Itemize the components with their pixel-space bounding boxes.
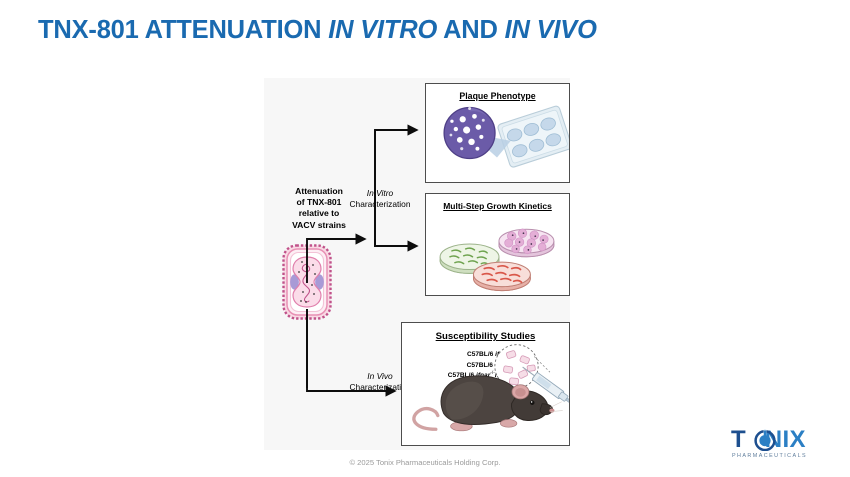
plaque-assay-illustration: [426, 84, 569, 182]
panel-plaque-phenotype: Plaque Phenotype: [425, 83, 570, 183]
copyright-notice: © 2025 Tonix Pharmaceuticals Holding Cor…: [0, 458, 850, 467]
panel-growth-kinetics: Multi-Step Growth Kinetics: [425, 193, 570, 296]
title-segment: AND: [437, 16, 504, 44]
panel-susceptibility-studies: Susceptibility Studies C57BL/6 ifnar-/-C…: [401, 322, 570, 446]
branch-label-line: In Vitro: [367, 188, 393, 198]
mouse-inoculation-illustration: [402, 323, 569, 445]
petri-dishes-illustration: [426, 194, 569, 295]
title-segment: IN VITRO: [328, 16, 437, 44]
branch-label-line: Characterization: [350, 199, 411, 209]
tonix-logo: TONIX PHARMACEUTICALS: [731, 428, 835, 464]
page-title: TNX-801 ATTENUATION IN VITRO AND IN VIVO: [38, 16, 597, 45]
diagram-canvas: Attenuation of TNX-801 relative to VACV …: [264, 78, 570, 450]
title-segment: TNX-801 ATTENUATION: [38, 16, 328, 44]
tonix-wordmark-t: T: [731, 426, 746, 453]
tonix-circle-mark: [754, 429, 776, 451]
title-segment: IN VIVO: [505, 16, 597, 44]
branch-label-line: In Vivo: [367, 371, 392, 381]
tonix-logo-subtitle: PHARMACEUTICALS: [732, 453, 807, 459]
poxvirus-virion-icon: [281, 243, 333, 321]
branch-label-in-vitro: In VitroCharacterization: [332, 188, 428, 209]
